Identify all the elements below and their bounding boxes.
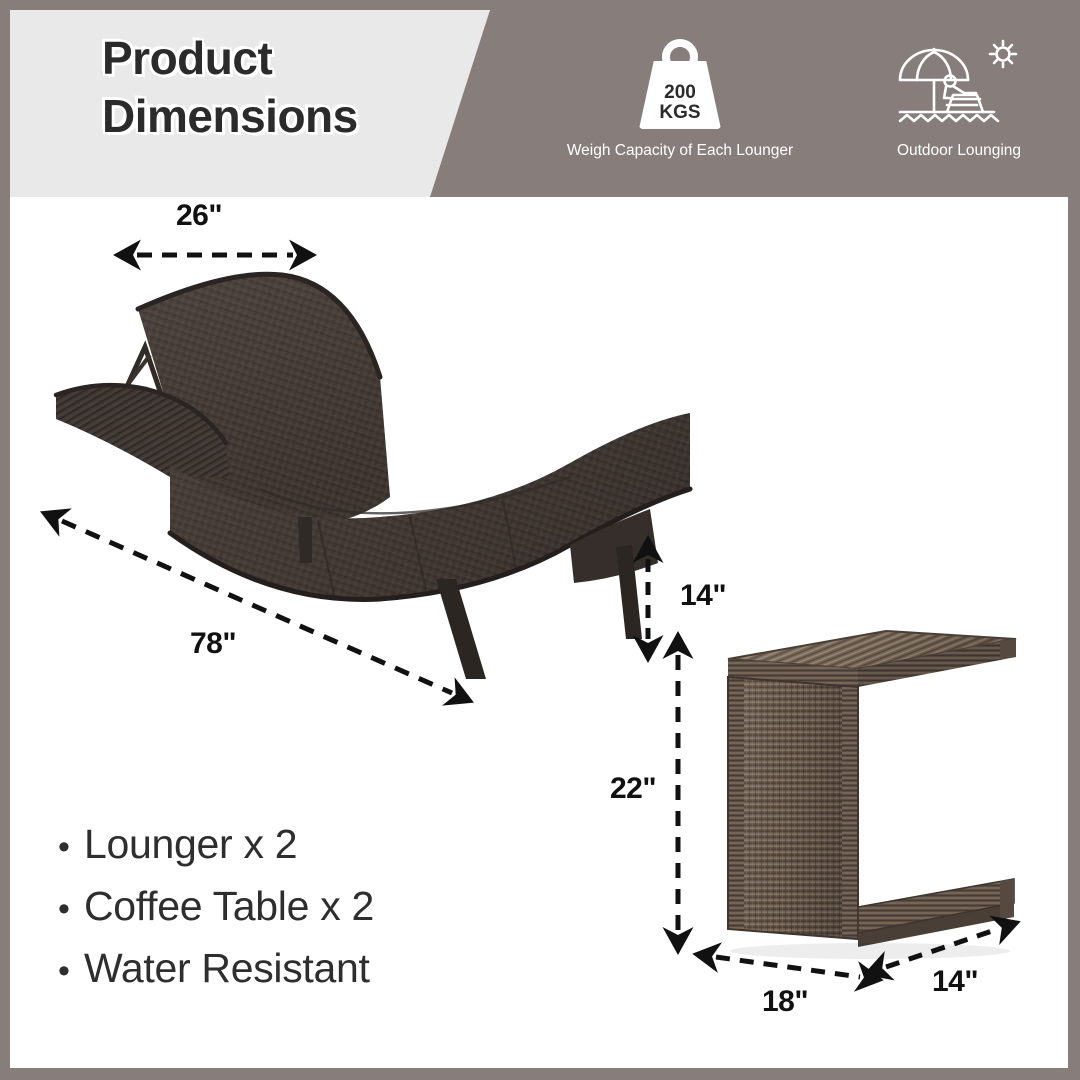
weight-value-number: 200 xyxy=(639,83,721,103)
page-title-line-1: Product xyxy=(102,30,462,88)
lounger-figure: 26" 78" xyxy=(50,227,690,667)
table-width-label: 18" xyxy=(762,985,808,1019)
weight-value-text: 200 KGS xyxy=(639,83,721,123)
list-item-label: Water Resistant xyxy=(84,946,370,992)
lounger-width-label: 26" xyxy=(176,199,222,233)
bullet-point-icon: • xyxy=(58,830,84,864)
feature-outdoor-lounging: Outdoor Lounging xyxy=(848,38,1068,160)
main-content: 26" 78" xyxy=(10,197,1068,1068)
product-dimensions-infographic: Product Dimensions 200 KGS Weigh Capacit… xyxy=(0,0,1080,1080)
list-item-label: Lounger x 2 xyxy=(84,822,297,868)
table-height-label: 22" xyxy=(610,772,656,806)
header-band: Product Dimensions 200 KGS Weigh Capacit… xyxy=(10,10,1068,197)
list-item-label: Coffee Table x 2 xyxy=(84,884,374,930)
features-bullet-list: • Lounger x 2 • Coffee Table x 2 • Water… xyxy=(58,822,598,1008)
list-item: • Coffee Table x 2 xyxy=(58,884,598,930)
feature-outdoor-label: Outdoor Lounging xyxy=(848,142,1068,160)
beach-umbrella-lounger-sun-icon xyxy=(884,38,1034,130)
table-height-arrow xyxy=(658,645,698,945)
bullet-point-icon: • xyxy=(58,892,84,926)
list-item: • Lounger x 2 xyxy=(58,822,598,868)
lounger-height-label: 14" xyxy=(680,579,726,613)
weight-200kgs-icon: 200 KGS xyxy=(639,39,721,129)
list-item: • Water Resistant xyxy=(58,946,598,992)
lounger-length-label: 78" xyxy=(190,627,236,661)
page-title-line-2: Dimensions xyxy=(102,88,462,146)
lounger-width-arrow xyxy=(125,233,305,273)
bullet-point-icon: • xyxy=(58,954,84,988)
lounger-length-arrow xyxy=(48,507,468,707)
coffee-table-illustration xyxy=(700,617,1040,967)
coffee-table-figure: 22" 18" xyxy=(700,617,1030,957)
table-depth-label: 14" xyxy=(932,965,978,999)
feature-weight-capacity: 200 KGS Weigh Capacity of Each Lounger xyxy=(555,38,805,160)
infographic-canvas: Product Dimensions 200 KGS Weigh Capacit… xyxy=(10,10,1068,1068)
page-title: Product Dimensions xyxy=(102,30,462,146)
weight-value-unit: KGS xyxy=(639,103,721,123)
outdoor-icon-wrapper xyxy=(848,38,1068,130)
feature-weight-label: Weigh Capacity of Each Lounger xyxy=(555,142,805,160)
weight-icon-wrapper: 200 KGS xyxy=(555,38,805,130)
lounger-height-arrow xyxy=(628,549,668,649)
